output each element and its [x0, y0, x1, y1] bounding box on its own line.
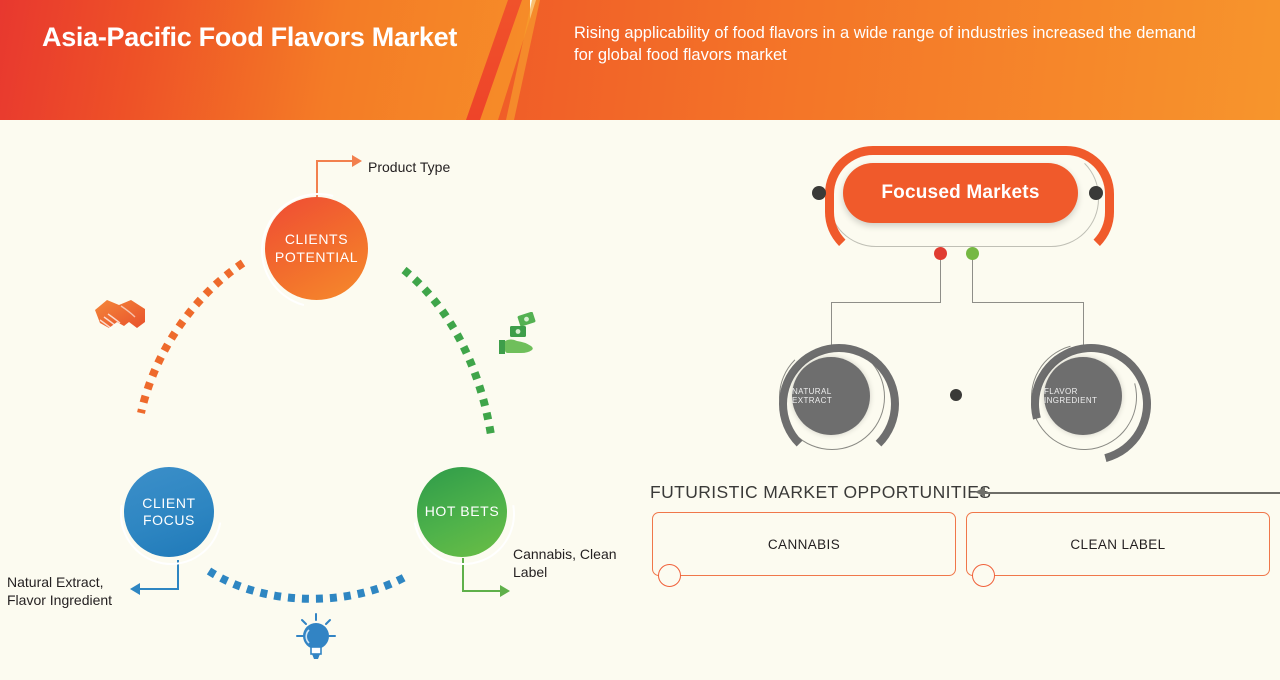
hot-bets-arrowhead: [500, 585, 510, 597]
segment-natural-extract[interactable]: NATURAL EXTRACT: [792, 357, 870, 435]
focused-markets-pill[interactable]: Focused Markets: [843, 163, 1078, 223]
natural-extract-drop-line: [831, 302, 832, 350]
product-type-connector-horizontal: [316, 160, 352, 162]
option-cannabis-label: CANNABIS: [768, 537, 840, 552]
green-dotted-arc: [398, 262, 508, 442]
callout-hot-bets: Cannabis, Clean Label: [513, 545, 633, 581]
futuristic-arrowhead: [975, 487, 985, 497]
money-in-hand-icon: [496, 312, 542, 356]
segment-flavor-ingredient-label: FLAVOR INGREDIENT: [1044, 387, 1122, 405]
node-hot-bets[interactable]: HOT BETS: [417, 467, 507, 557]
futuristic-section-title: FUTURISTIC MARKET OPPORTUNITIES: [650, 482, 991, 503]
segment-flavor-ingredient[interactable]: FLAVOR INGREDIENT: [1044, 357, 1122, 435]
segment-natural-extract-label: NATURAL EXTRACT: [792, 387, 870, 405]
focused-markets-label: Focused Markets: [881, 182, 1039, 204]
option-cannabis-knob: [658, 564, 681, 587]
node-client-focus[interactable]: CLIENT FOCUS: [124, 467, 214, 557]
node-clients-potential-label: CLIENTS POTENTIAL: [265, 231, 368, 266]
green-branch-line-horizontal: [972, 302, 1084, 303]
option-clean-label-knob: [972, 564, 995, 587]
lightbulb-icon: [294, 612, 338, 664]
handshake-icon: [93, 292, 155, 340]
red-branch-line-vertical: [940, 259, 941, 303]
option-box-clean-label[interactable]: CLEAN LABEL: [966, 512, 1270, 576]
callout-product-type: Product Type: [368, 158, 450, 176]
focused-markets-left-dot: [812, 186, 826, 200]
futuristic-arrow-line: [985, 492, 1280, 494]
option-box-cannabis[interactable]: CANNABIS: [652, 512, 956, 576]
infographic-canvas: Asia-Pacific Food Flavors Market Rising …: [0, 0, 1280, 680]
client-focus-connector-horizontal: [140, 588, 179, 590]
option-clean-label-label: CLEAN LABEL: [1070, 537, 1165, 552]
focused-markets-right-dot: [1089, 186, 1103, 200]
hot-bets-connector-horizontal: [462, 590, 500, 592]
product-type-arrowhead: [352, 155, 362, 167]
green-branch-line-vertical: [972, 259, 973, 303]
header-subtitle: Rising applicability of food flavors in …: [574, 22, 1214, 67]
node-hot-bets-label: HOT BETS: [425, 503, 500, 521]
page-title: Asia-Pacific Food Flavors Market: [42, 20, 472, 55]
green-branch-dot: [966, 247, 979, 260]
red-branch-line-horizontal: [831, 302, 941, 303]
center-dot: [950, 389, 962, 401]
header-left-gradient: [0, 0, 530, 120]
blue-dotted-arc: [205, 565, 410, 605]
node-client-focus-label: CLIENT FOCUS: [124, 495, 214, 530]
header-banner: Asia-Pacific Food Flavors Market Rising …: [0, 0, 1280, 120]
node-clients-potential[interactable]: CLIENTS POTENTIAL: [265, 197, 368, 300]
callout-client-focus: Natural Extract, Flavor Ingredient: [7, 573, 132, 609]
red-branch-dot: [934, 247, 947, 260]
